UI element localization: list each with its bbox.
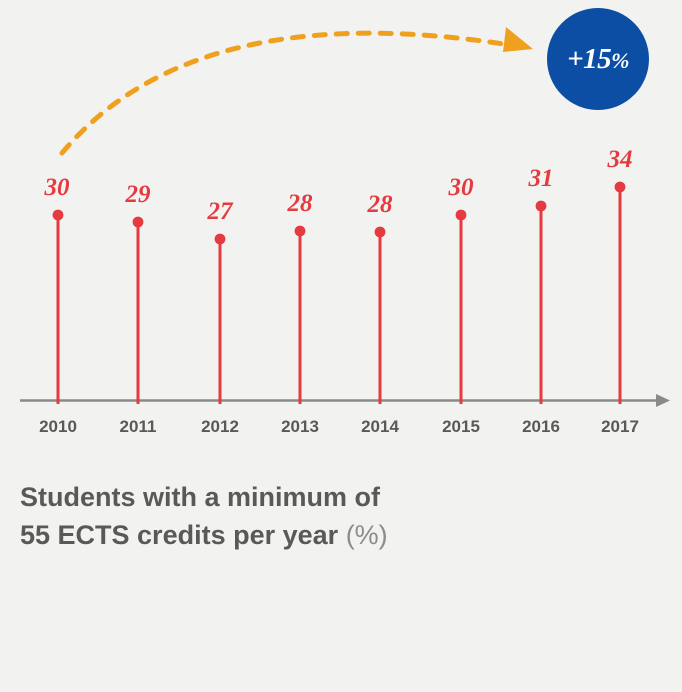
chart-text-layer: 30 29 27 28 28 30 31 34 2010 2011 2012 2… — [0, 0, 682, 692]
x-tick-label-2017: 2017 — [601, 418, 639, 435]
x-tick-label-2010: 2010 — [39, 418, 77, 435]
growth-badge-unit: % — [611, 48, 629, 73]
x-tick-label-2012: 2012 — [201, 418, 239, 435]
x-tick-label-2015: 2015 — [442, 418, 480, 435]
x-tick-label-2016: 2016 — [522, 418, 560, 435]
data-label-2013: 28 — [288, 191, 313, 216]
x-tick-label-2011: 2011 — [120, 418, 157, 435]
chart-caption: Students with a minimum of 55 ECTS credi… — [20, 478, 640, 554]
x-tick-label-2013: 2013 — [281, 418, 319, 435]
x-tick-label-2014: 2014 — [361, 418, 399, 435]
growth-badge-label: +15% — [567, 45, 629, 74]
caption-unit: (%) — [346, 520, 388, 550]
caption-line-1: Students with a minimum of — [20, 478, 640, 516]
data-label-2017: 34 — [608, 147, 633, 172]
data-label-2015: 30 — [449, 175, 474, 200]
caption-line-2-bold: 55 ECTS credits per year — [20, 520, 338, 550]
data-label-2012: 27 — [208, 199, 233, 224]
caption-line-2: 55 ECTS credits per year (%) — [20, 516, 640, 554]
data-label-2011: 29 — [126, 182, 151, 207]
data-label-2016: 31 — [529, 166, 554, 191]
infographic-root: 30 29 27 28 28 30 31 34 2010 2011 2012 2… — [0, 0, 682, 692]
growth-badge-value: +15 — [567, 43, 611, 75]
data-label-2014: 28 — [368, 192, 393, 217]
data-label-2010: 30 — [45, 175, 70, 200]
growth-badge: +15% — [547, 8, 649, 110]
